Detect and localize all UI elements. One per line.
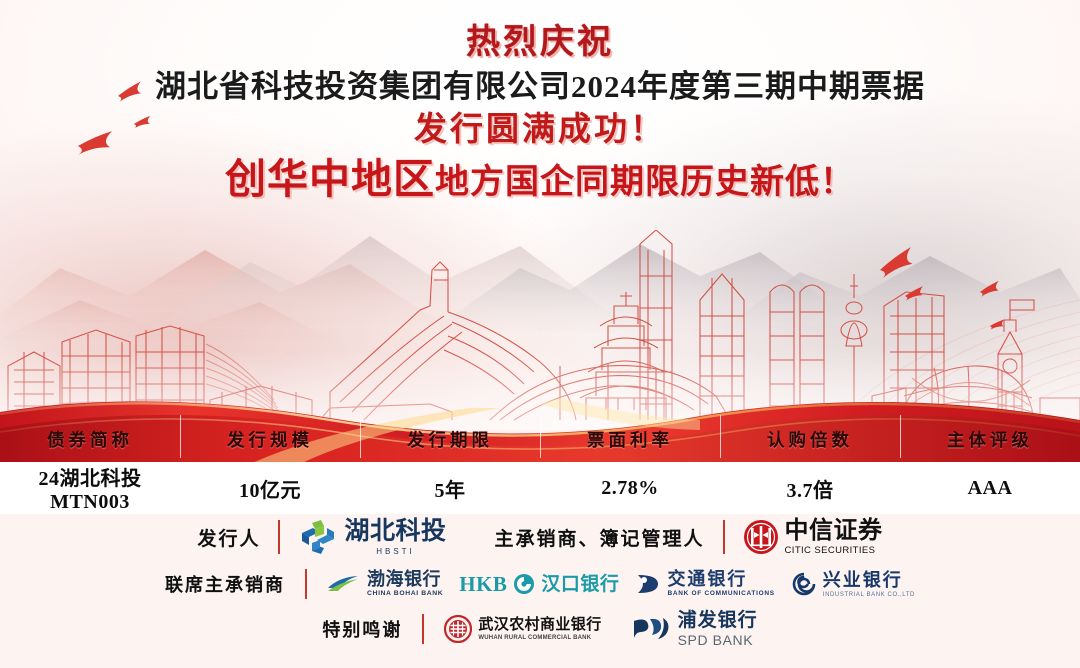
special-thanks-label: 特别鸣谢 [322,616,402,642]
spd-mark-icon [632,616,672,642]
spd-logo-text: 浦发银行 SPD BANK [678,611,758,647]
bohai-logo-text: 渤海银行 CHINA BOHAI BANK [367,570,443,598]
logo-hbsti: 湖北科投 HBSTI [298,517,446,557]
bond-table-header: 债券简称 发行规模 发行期限 票面利率 认购倍数 主体评级 [0,398,1080,462]
logo-wuhan-rural-commercial-bank: 武汉农村商业银行 WUHAN RURAL COMMERCIAL BANK [444,615,601,643]
issuer-label: 发行人 [197,524,260,551]
wrcb-mark-icon [444,615,472,643]
logo-bank-of-communications: 交通银行 BANK OF COMMUNICATIONS [635,570,774,598]
bohai-mark-icon [327,574,361,594]
bocom-name-en: BANK OF COMMUNICATIONS [667,591,774,598]
spd-name-en: SPD BANK [678,633,758,647]
bocom-logo-text: 交通银行 BANK OF COMMUNICATIONS [667,570,774,598]
cib-mark-icon [791,572,817,596]
headline-success: 发行圆满成功！ [0,114,1080,147]
headline-block: 热烈庆祝 湖北省科技投资集团有限公司2024年度第三期中期票据 发行圆满成功！ … [0,26,1080,200]
partner-row-issuer: 发行人 湖北科投 HBSTI 主承销商、簿记管理人 [0,512,1080,562]
logo-citic-securities: 中信证券 CITIC SECURITIES [743,519,883,556]
bond-table-row: 24湖北科投MTN003 10亿元 5年 2.78% 3.7倍 AAA [0,462,1080,514]
logo-industrial-bank: 兴业银行 INDUSTRIAL BANK CO.,LTD [791,571,915,598]
wrcb-name-cn: 武汉农村商业银行 [478,618,601,633]
table-cell-subscription-multiple: 3.7倍 [720,474,900,503]
bocom-name-cn: 交通银行 [667,570,774,588]
headline-issue-name: 湖北省科技投资集团有限公司2024年度第三期中期票据 [0,71,1080,102]
celebration-poster: 热烈庆祝 湖北省科技投资集团有限公司2024年度第三期中期票据 发行圆满成功！ … [0,0,1080,668]
headline-record-emphasis: 创华中地区 [225,156,435,202]
divider [422,614,424,644]
table-header-cell: 发行期限 [360,409,540,452]
hkb-abbreviation: HKB [459,572,507,597]
table-header-cell: 主体评级 [900,409,1080,452]
table-cell-issue-size: 10亿元 [180,474,360,503]
divider [723,520,725,554]
logo-hankou-bank: HKB 汉口银行 [459,572,619,597]
partners-section: 发行人 湖北科投 HBSTI 主承销商、簿记管理人 [0,512,1080,652]
wrcb-name-en: WUHAN RURAL COMMERCIAL BANK [478,635,601,641]
bocom-mark-icon [635,572,661,596]
table-header-cell: 发行规模 [180,409,360,452]
hbsti-name-cn: 湖北科投 [344,519,446,544]
logo-spd-bank: 浦发银行 SPD BANK [632,611,758,647]
wrcb-logo-text: 武汉农村商业银行 WUHAN RURAL COMMERCIAL BANK [478,618,601,641]
divider [278,520,280,554]
lead-underwriter-label: 主承销商、簿记管理人 [495,524,705,551]
table-header-cell: 债券简称 [0,409,180,452]
table-cell-credit-rating: AAA [900,477,1080,500]
citic-logo-text: 中信证券 CITIC SECURITIES [785,519,883,556]
table-cell-tenor: 5年 [360,474,540,503]
cib-name-en: INDUSTRIAL BANK CO.,LTD [823,592,915,598]
bohai-name-en: CHINA BOHAI BANK [367,591,443,598]
hkb-name-cn: 汉口银行 [541,575,619,594]
citic-mark-icon [743,519,779,555]
spd-name-cn: 浦发银行 [678,611,758,630]
headline-record-rest: 地方国企同期限历史新低！ [435,164,855,201]
table-header-cell: 认购倍数 [720,409,900,452]
hbsti-mark-icon [298,517,338,557]
hkb-logo-text: 汉口银行 [541,575,619,594]
divider [305,569,307,599]
cib-logo-text: 兴业银行 INDUSTRIAL BANK CO.,LTD [823,571,915,598]
citic-name-cn: 中信证券 [785,519,883,543]
logo-china-bohai-bank: 渤海银行 CHINA BOHAI BANK [327,570,443,598]
hbsti-logo-text: 湖北科投 HBSTI [344,519,446,556]
table-cell-coupon-rate: 2.78% [540,477,720,500]
table-header-cell: 票面利率 [540,409,720,452]
bohai-name-cn: 渤海银行 [367,570,443,588]
partner-row-special-thanks: 特别鸣谢 武汉农村商业银行 WUHAN RURAL COMMERCIAL BAN… [0,606,1080,652]
citic-name-en: CITIC SECURITIES [785,546,883,556]
headline-congratulations: 热烈庆祝 [0,26,1080,60]
hbsti-name-en: HBSTI [344,548,446,556]
hkb-mark-icon [513,573,535,595]
partner-row-joint-underwriters: 联席主承销商 渤海银行 CHINA BOHAI BANK HKB [0,562,1080,606]
joint-underwriters-label: 联席主承销商 [165,571,285,597]
cib-name-cn: 兴业银行 [823,571,915,589]
table-cell-bond-name: 24湖北科投MTN003 [0,462,180,514]
headline-record: 创华中地区地方国企同期限历史新低！ [0,159,1080,200]
